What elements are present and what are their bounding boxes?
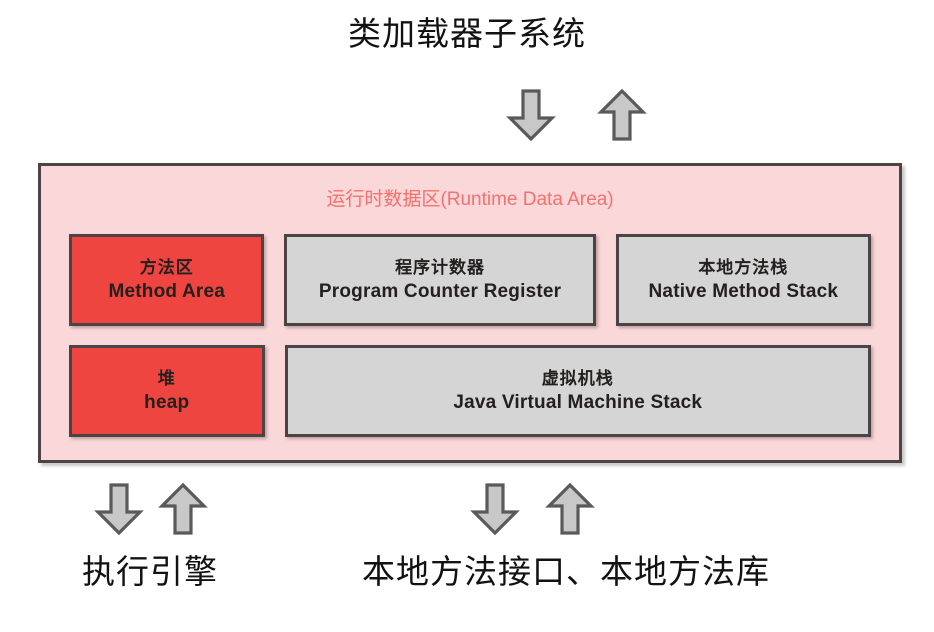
arrow-up-native-interface-to-runtime	[545, 483, 595, 536]
memory-row-top: 方法区 Method Area 程序计数器 Program Counter Re…	[41, 234, 899, 326]
memory-box-program-counter-register[interactable]: 程序计数器 Program Counter Register	[284, 234, 595, 326]
memory-box-heap-cn: 堆	[158, 367, 176, 390]
arrow-down-runtime-to-execution-engine	[94, 483, 144, 536]
memory-box-native-method-stack-cn: 本地方法栈	[698, 256, 788, 279]
arrow-up-runtime-to-classloader	[597, 89, 647, 142]
arrow-down-classloader-to-runtime	[506, 89, 556, 142]
memory-box-native-method-stack-en: Native Method Stack	[649, 279, 839, 304]
label-native-method-interface-and-library: 本地方法接口、本地方法库	[362, 552, 770, 592]
memory-box-program-counter-register-en: Program Counter Register	[319, 279, 561, 304]
label-execution-engine: 执行引擎	[82, 552, 218, 592]
memory-box-method-area-en: Method Area	[108, 279, 225, 304]
page-title: 类加载器子系统	[0, 14, 934, 54]
memory-box-java-virtual-machine-stack[interactable]: 虚拟机栈 Java Virtual Machine Stack	[285, 345, 872, 437]
memory-box-java-virtual-machine-stack-cn: 虚拟机栈	[542, 367, 614, 390]
memory-row-bottom: 堆 heap 虚拟机栈 Java Virtual Machine Stack	[41, 345, 899, 437]
runtime-data-area-container: 运行时数据区(Runtime Data Area) 方法区 Method Are…	[38, 163, 902, 463]
memory-box-java-virtual-machine-stack-en: Java Virtual Machine Stack	[453, 390, 702, 415]
memory-box-heap[interactable]: 堆 heap	[69, 345, 265, 437]
memory-box-method-area[interactable]: 方法区 Method Area	[69, 234, 264, 326]
runtime-data-area-title: 运行时数据区(Runtime Data Area)	[41, 188, 899, 212]
memory-box-method-area-cn: 方法区	[140, 256, 194, 279]
memory-box-program-counter-register-cn: 程序计数器	[395, 256, 485, 279]
memory-box-heap-en: heap	[144, 390, 189, 415]
arrow-up-execution-engine-to-runtime	[158, 483, 208, 536]
arrow-down-runtime-to-native-interface	[470, 483, 520, 536]
memory-box-native-method-stack[interactable]: 本地方法栈 Native Method Stack	[616, 234, 871, 326]
